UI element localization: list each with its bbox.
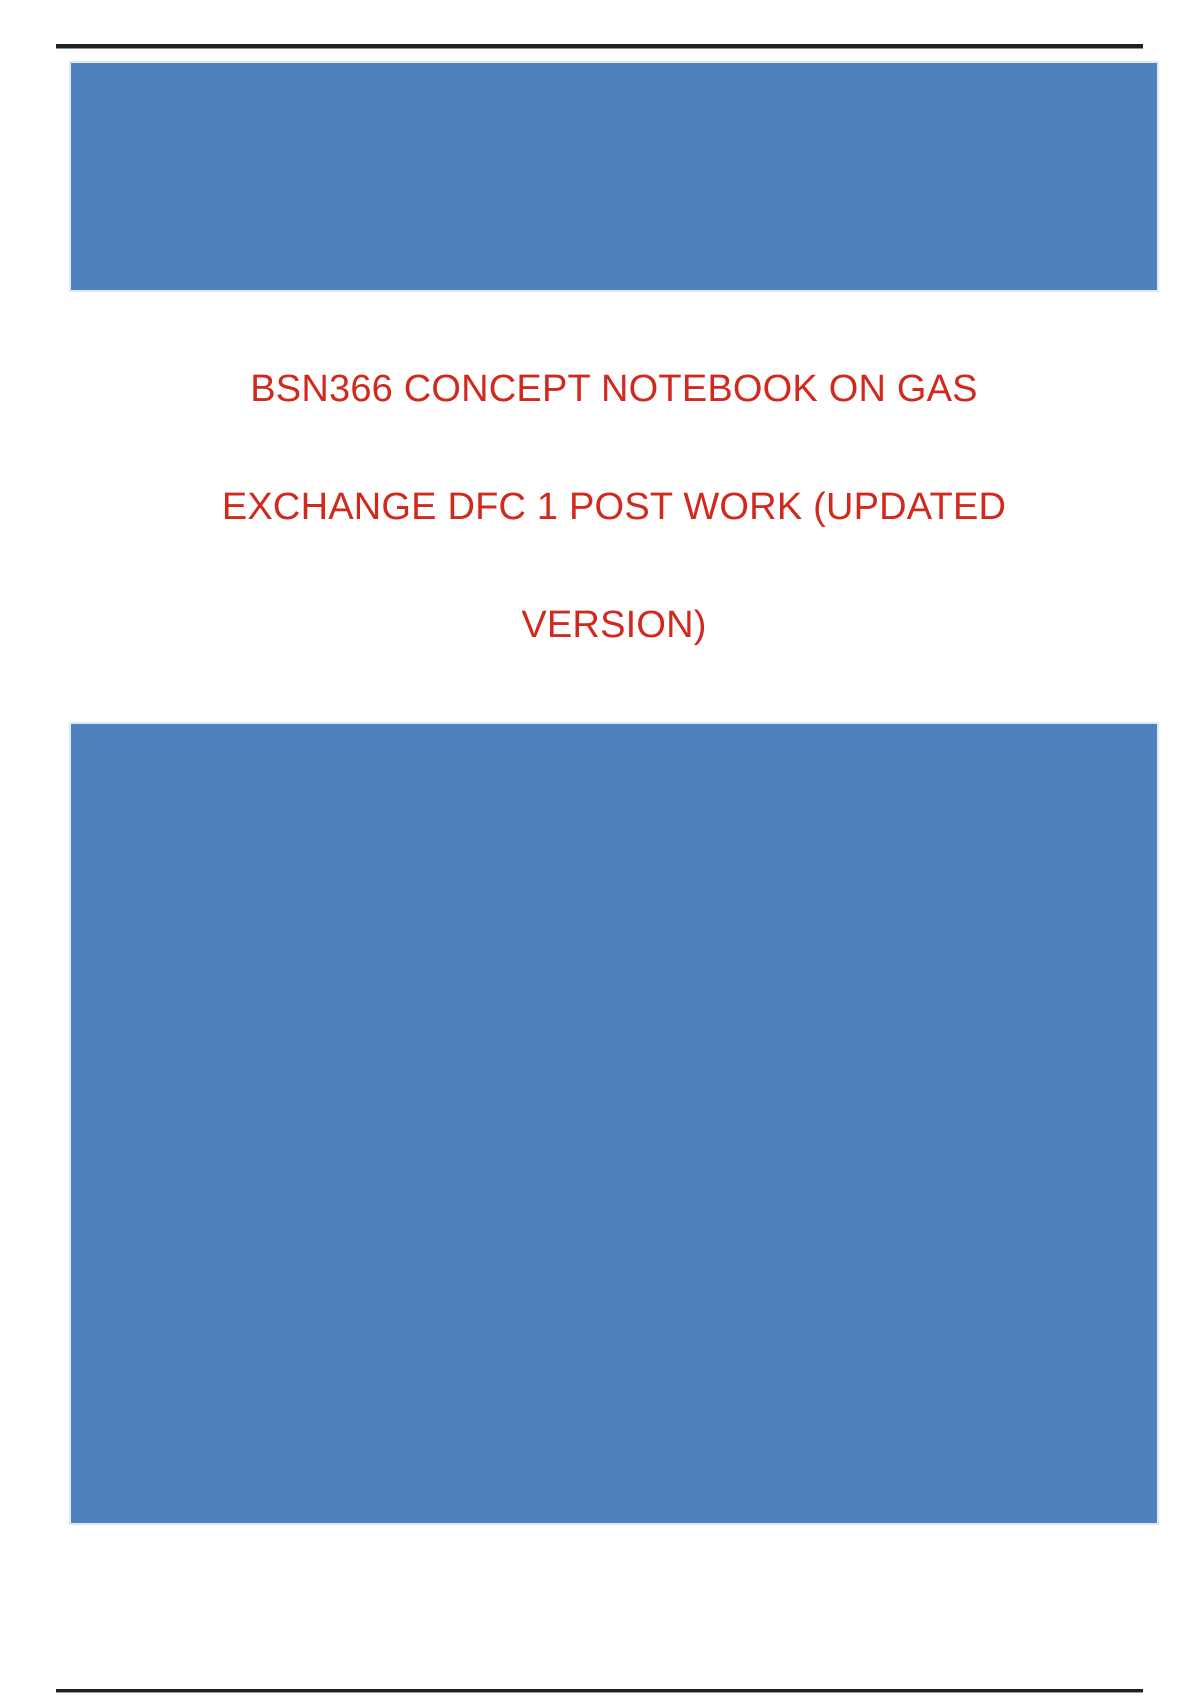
title-line-1: BSN366 CONCEPT NOTEBOOK ON GAS <box>70 330 1158 448</box>
title-line-2: EXCHANGE DFC 1 POST WORK (UPDATED <box>70 448 1158 566</box>
title-line-3: VERSION) <box>70 566 1158 684</box>
header-divider-rule <box>56 44 1143 49</box>
cover-image-placeholder-bottom <box>70 723 1158 1524</box>
cover-image-placeholder-top <box>70 62 1158 291</box>
footer-divider-rule <box>56 1689 1143 1693</box>
page-title: BSN366 CONCEPT NOTEBOOK ON GAS EXCHANGE … <box>70 330 1158 684</box>
document-page: BSN366 CONCEPT NOTEBOOK ON GAS EXCHANGE … <box>0 0 1200 1700</box>
